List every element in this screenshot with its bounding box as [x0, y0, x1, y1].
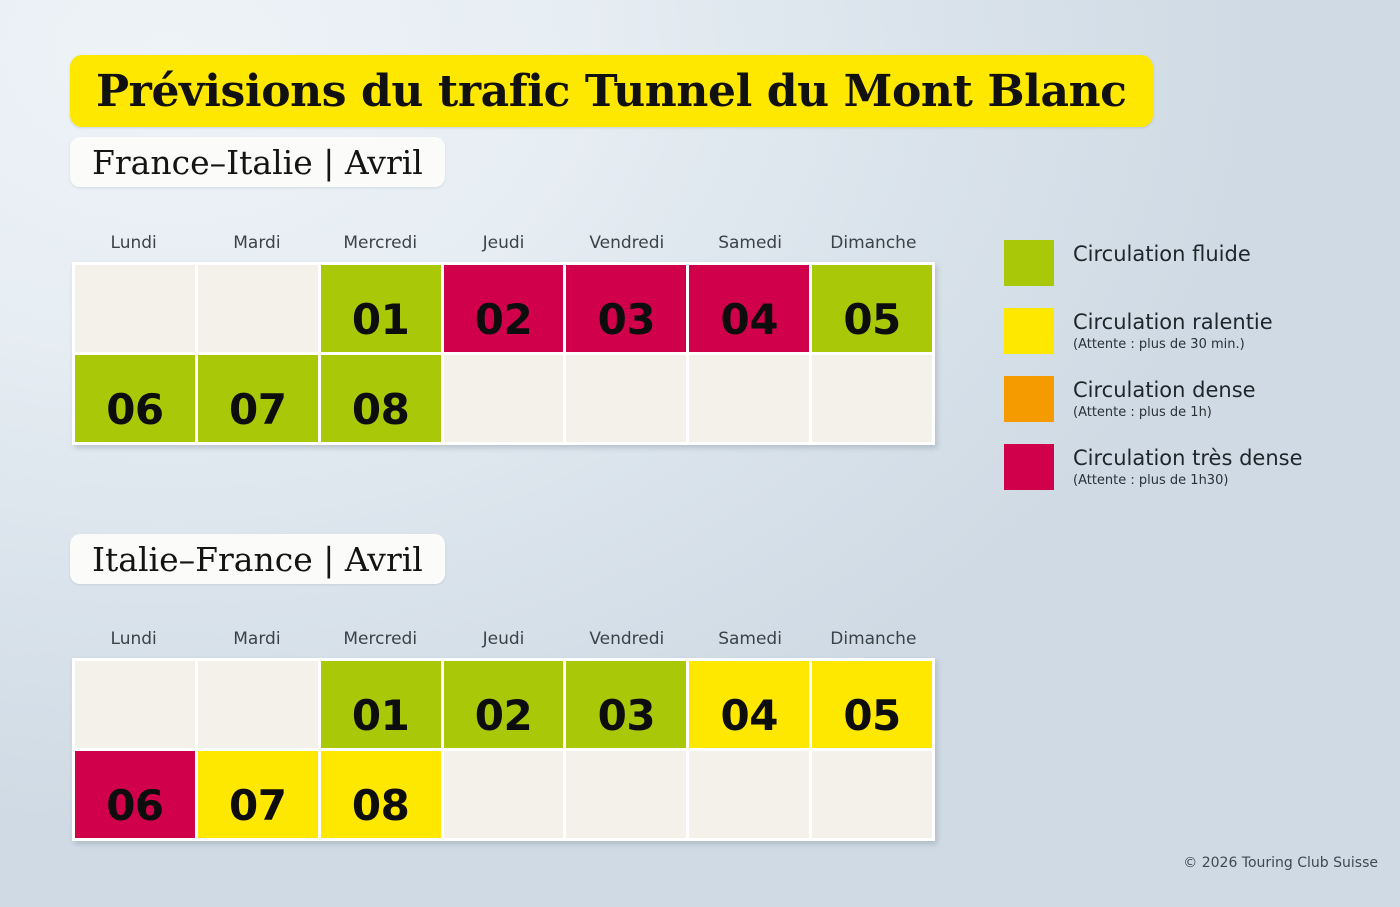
- day-number: 04: [720, 299, 777, 352]
- day-cell[interactable]: 03: [566, 265, 686, 352]
- day-header-samedi: Samedi: [688, 232, 811, 262]
- day-number: 04: [720, 695, 777, 748]
- legend-label: Circulation très dense: [1073, 446, 1303, 471]
- legend-label: Circulation dense: [1073, 378, 1256, 403]
- subtitle-label: Italie–France | Avril: [92, 540, 423, 579]
- day-cell[interactable]: 08: [321, 355, 441, 442]
- day-header-mardi: Mardi: [195, 628, 318, 658]
- day-number: 02: [475, 695, 532, 748]
- legend-text: Circulation très dense(Attente : plus de…: [1073, 444, 1303, 489]
- legend-sublabel: (Attente : plus de 1h30): [1073, 472, 1303, 489]
- day-cell[interactable]: 01: [321, 661, 441, 748]
- day-cell-empty: [444, 751, 564, 838]
- day-cell[interactable]: 07: [198, 355, 318, 442]
- day-header-row: LundiMardiMercrediJeudiVendrediSamediDim…: [72, 628, 935, 658]
- day-header-dimanche: Dimanche: [812, 232, 935, 262]
- legend-item-orange: Circulation dense(Attente : plus de 1h): [1004, 376, 1364, 422]
- legend: Circulation fluideCirculation ralentie(A…: [1004, 240, 1364, 512]
- day-cell[interactable]: 08: [321, 751, 441, 838]
- day-cell-empty: [566, 751, 686, 838]
- day-header-samedi: Samedi: [688, 628, 811, 658]
- day-header-row: LundiMardiMercrediJeudiVendrediSamediDim…: [72, 232, 935, 262]
- legend-sublabel: (Attente : plus de 30 min.): [1073, 336, 1273, 353]
- legend-text: Circulation dense(Attente : plus de 1h): [1073, 376, 1256, 421]
- day-number: 05: [843, 695, 900, 748]
- day-number: 07: [229, 389, 286, 442]
- calendar-france-italie: LundiMardiMercrediJeudiVendrediSamediDim…: [72, 232, 935, 445]
- day-cell[interactable]: 03: [566, 661, 686, 748]
- calendar-grid-wrap: 0102030405060708: [72, 262, 935, 445]
- day-cell[interactable]: 05: [812, 265, 932, 352]
- legend-text: Circulation ralentie(Attente : plus de 3…: [1073, 308, 1273, 353]
- legend-label: Circulation fluide: [1073, 242, 1251, 267]
- day-cell-empty: [812, 355, 932, 442]
- day-cell[interactable]: 05: [812, 661, 932, 748]
- day-cell[interactable]: 07: [198, 751, 318, 838]
- calendar-grid: 0102030405060708: [75, 265, 932, 442]
- day-cell-empty: [444, 355, 564, 442]
- day-cell[interactable]: 04: [689, 661, 809, 748]
- day-number: 02: [475, 299, 532, 352]
- day-number: 05: [843, 299, 900, 352]
- day-header-vendredi: Vendredi: [565, 628, 688, 658]
- day-header-lundi: Lundi: [72, 232, 195, 262]
- legend-sublabel: (Attente : plus de 1h): [1073, 404, 1256, 421]
- day-header-vendredi: Vendredi: [565, 232, 688, 262]
- day-cell[interactable]: 01: [321, 265, 441, 352]
- legend-swatch-orange: [1004, 376, 1054, 422]
- calendar-italie-france: LundiMardiMercrediJeudiVendrediSamediDim…: [72, 628, 935, 841]
- calendar-grid-wrap: 0102030405060708: [72, 658, 935, 841]
- day-cell[interactable]: 06: [75, 751, 195, 838]
- legend-swatch-red: [1004, 444, 1054, 490]
- day-number: 06: [106, 785, 163, 838]
- day-number: 01: [352, 695, 409, 748]
- day-number: 03: [598, 695, 655, 748]
- legend-item-red: Circulation très dense(Attente : plus de…: [1004, 444, 1364, 490]
- day-number: 08: [352, 389, 409, 442]
- day-cell-empty: [198, 265, 318, 352]
- day-header-mercredi: Mercredi: [319, 232, 442, 262]
- day-cell-empty: [75, 661, 195, 748]
- day-number: 03: [598, 299, 655, 352]
- day-cell-empty: [198, 661, 318, 748]
- day-header-mercredi: Mercredi: [319, 628, 442, 658]
- day-cell-empty: [566, 355, 686, 442]
- copyright-footer: © 2026 Touring Club Suisse: [1183, 855, 1378, 871]
- day-number: 07: [229, 785, 286, 838]
- day-number: 08: [352, 785, 409, 838]
- subtitle-pill-italie-france: Italie–France | Avril: [70, 534, 445, 584]
- title-banner: Prévisions du trafic Tunnel du Mont Blan…: [70, 55, 1153, 127]
- day-number: 01: [352, 299, 409, 352]
- day-header-jeudi: Jeudi: [442, 628, 565, 658]
- day-cell[interactable]: 02: [444, 661, 564, 748]
- day-number: 06: [106, 389, 163, 442]
- legend-text: Circulation fluide: [1073, 240, 1251, 267]
- day-cell-empty: [812, 751, 932, 838]
- calendar-grid: 0102030405060708: [75, 661, 932, 838]
- day-cell[interactable]: 02: [444, 265, 564, 352]
- legend-swatch-yellow: [1004, 308, 1054, 354]
- day-header-mardi: Mardi: [195, 232, 318, 262]
- legend-item-green: Circulation fluide: [1004, 240, 1364, 286]
- subtitle-pill-france-italie: France–Italie | Avril: [70, 137, 445, 187]
- legend-item-yellow: Circulation ralentie(Attente : plus de 3…: [1004, 308, 1364, 354]
- legend-swatch-green: [1004, 240, 1054, 286]
- day-cell-empty: [689, 355, 809, 442]
- day-cell[interactable]: 06: [75, 355, 195, 442]
- legend-label: Circulation ralentie: [1073, 310, 1273, 335]
- day-header-lundi: Lundi: [72, 628, 195, 658]
- day-header-dimanche: Dimanche: [812, 628, 935, 658]
- day-cell[interactable]: 04: [689, 265, 809, 352]
- page-title: Prévisions du trafic Tunnel du Mont Blan…: [96, 66, 1127, 117]
- day-cell-empty: [689, 751, 809, 838]
- day-header-jeudi: Jeudi: [442, 232, 565, 262]
- subtitle-label: France–Italie | Avril: [92, 143, 423, 182]
- day-cell-empty: [75, 265, 195, 352]
